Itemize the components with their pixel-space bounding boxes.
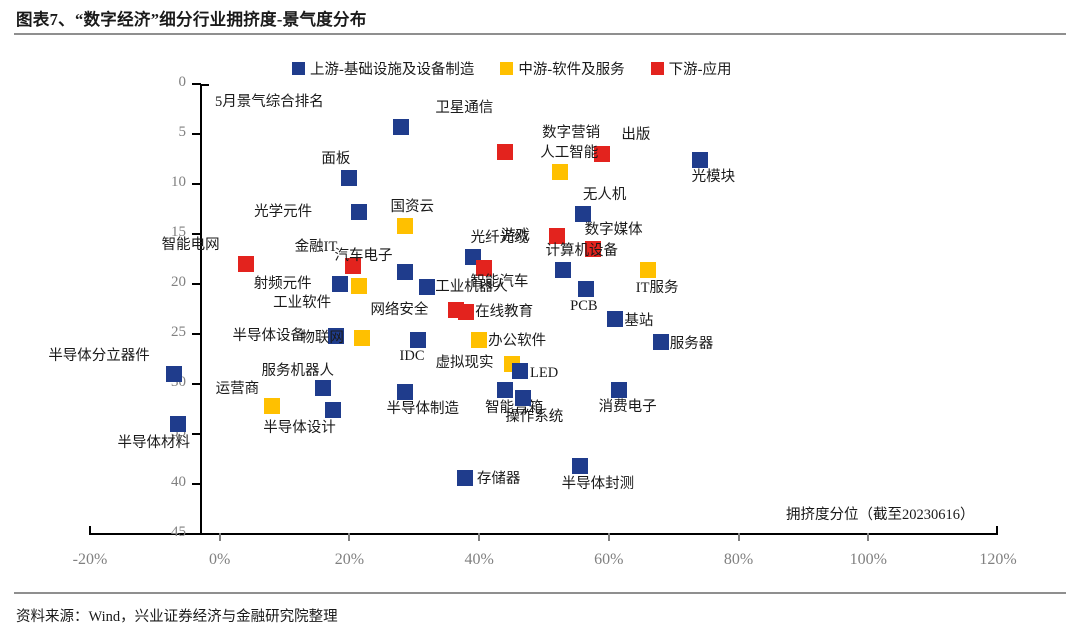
scatter-marker[interactable] — [457, 470, 473, 486]
scatter-marker[interactable] — [351, 278, 367, 294]
chart-note: 5月景气综合排名 — [215, 90, 324, 111]
scatter-marker[interactable] — [397, 384, 413, 400]
scatter-point-label: LED — [530, 366, 558, 381]
scatter-marker[interactable] — [458, 304, 474, 320]
scatter-point-label: 存储器 — [477, 472, 521, 487]
scatter-point-label: 计算机设备 — [545, 244, 618, 259]
scatter-point-label: 工业机器人 — [435, 280, 508, 295]
scatter-point-label: 半导体分立器件 — [48, 349, 150, 364]
scatter-point-label: 半导体材料 — [118, 436, 191, 451]
scatter-point-label: 出版 — [621, 128, 650, 143]
scatter-point-label: 无人机 — [583, 188, 627, 203]
scatter-marker[interactable] — [170, 416, 186, 432]
x-axis-tick — [738, 533, 740, 541]
x-axis-tick-label: 120% — [958, 551, 1038, 569]
x-axis-tick — [219, 533, 221, 541]
scatter-marker[interactable] — [397, 218, 413, 234]
x-axis-line — [90, 533, 998, 535]
scatter-marker[interactable] — [419, 279, 435, 295]
scatter-point-label: 服务器 — [670, 337, 714, 352]
scatter-marker[interactable] — [497, 382, 513, 398]
scatter-marker[interactable] — [341, 170, 357, 186]
y-axis-tick — [192, 533, 201, 535]
scatter-point-label: 数字媒体 — [585, 223, 643, 238]
scatter-point-label: 办公软件 — [488, 334, 546, 349]
scatter-point-label: 数字营销 — [542, 126, 600, 141]
scatter-point-label: 虚拟现实 — [436, 356, 494, 371]
scatter-marker[interactable] — [555, 262, 571, 278]
y-axis-tick-label: 25 — [140, 324, 186, 341]
scatter-point-label: 网络安全 — [370, 303, 428, 318]
scatter-marker[interactable] — [166, 366, 182, 382]
x-axis-tick — [608, 533, 610, 541]
scatter-marker[interactable] — [653, 334, 669, 350]
scatter-marker[interactable] — [578, 281, 594, 297]
scatter-point-label: 半导体封测 — [562, 477, 635, 492]
y-axis-tick-label: 20 — [140, 274, 186, 291]
scatter-marker[interactable] — [515, 390, 531, 406]
legend-item-2[interactable]: 下游-应用 — [651, 58, 732, 79]
scatter-marker[interactable] — [397, 264, 413, 280]
x-axis-left-cap — [89, 526, 91, 535]
legend-item-0[interactable]: 上游-基础设施及设备制造 — [292, 58, 474, 79]
scatter-marker[interactable] — [497, 144, 513, 160]
scatter-marker[interactable] — [351, 204, 367, 220]
scatter-marker[interactable] — [264, 398, 280, 414]
y-axis-tick-label: 0 — [140, 74, 186, 91]
scatter-point-label: PCB — [570, 299, 597, 314]
y-axis-tick — [192, 383, 201, 385]
y-axis-tick — [192, 483, 201, 485]
scatter-point-label: 面板 — [321, 152, 350, 167]
scatter-marker[interactable] — [471, 332, 487, 348]
y-axis-tick-label: 5 — [140, 124, 186, 141]
x-axis-tick-label: 60% — [569, 551, 649, 569]
y-axis-tick — [192, 83, 201, 85]
x-axis-tick-label: 100% — [828, 551, 908, 569]
y-axis-tick-label: 10 — [140, 174, 186, 191]
scatter-marker[interactable] — [354, 330, 370, 346]
scatter-point-label: 卫星通信 — [435, 101, 493, 116]
scatter-point-label: 操作系统 — [505, 410, 563, 425]
y-axis-tick — [192, 133, 201, 135]
legend-item-1[interactable]: 中游-软件及服务 — [500, 58, 624, 79]
x-axis-title: 拥挤度分位（截至20230616） — [786, 503, 975, 524]
scatter-marker[interactable] — [692, 152, 708, 168]
scatter-marker[interactable] — [552, 164, 568, 180]
y-axis-tick-label: 40 — [140, 474, 186, 491]
scatter-marker[interactable] — [325, 402, 341, 418]
x-axis-tick-label: 80% — [699, 551, 779, 569]
page-title: 图表7、“数字经济”细分行业拥挤度-景气度分布 — [16, 6, 367, 30]
scatter-marker[interactable] — [238, 256, 254, 272]
scatter-point-label: 运营商 — [216, 382, 260, 397]
y-axis-tick — [192, 333, 201, 335]
y-axis-tick-label: 45 — [140, 524, 186, 541]
legend-label: 上游-基础设施及设备制造 — [310, 58, 474, 79]
scatter-point-label: 射频元件 — [254, 277, 312, 292]
y-axis-tick — [192, 433, 201, 435]
scatter-marker[interactable] — [607, 311, 623, 327]
legend-swatch-icon — [500, 62, 513, 75]
scatter-point-label: 半导体设计 — [263, 421, 336, 436]
x-axis-tick — [478, 533, 480, 541]
scatter-point-label: 基站 — [624, 314, 653, 329]
scatter-point-label: 工业软件 — [273, 296, 331, 311]
x-axis-tick-label: -20% — [50, 551, 130, 569]
scatter-marker[interactable] — [572, 458, 588, 474]
title-bar: 图表7、“数字经济”细分行业拥挤度-景气度分布 — [0, 0, 1080, 34]
y-axis-tick — [192, 283, 201, 285]
scatter-marker[interactable] — [332, 276, 348, 292]
y-axis-top-cap — [200, 84, 209, 86]
scatter-marker[interactable] — [549, 228, 565, 244]
scatter-point-label: 在线教育 — [475, 305, 533, 320]
x-axis-tick-label: 0% — [180, 551, 260, 569]
scatter-point-label: 半导体制造 — [387, 402, 460, 417]
scatter-marker[interactable] — [512, 363, 528, 379]
y-axis-tick — [192, 183, 201, 185]
y-axis-line — [200, 84, 202, 534]
source-note: 资料来源：Wind，兴业证券经济与金融研究院整理 — [16, 605, 338, 626]
scatter-point-label: 国资云 — [391, 200, 435, 215]
scatter-point-label: 消费电子 — [599, 400, 657, 415]
scatter-point-label: 智能电网 — [162, 238, 220, 253]
scatter-marker[interactable] — [575, 206, 591, 222]
scatter-point-label: 服务机器人 — [261, 364, 334, 379]
y-axis-tick — [192, 233, 201, 235]
scatter-point-label: IDC — [400, 349, 425, 364]
legend-swatch-icon — [651, 62, 664, 75]
scatter-point-label: 光模块 — [692, 170, 736, 185]
scatter-point-label: 光学元件 — [254, 205, 312, 220]
x-axis-tick — [867, 533, 869, 541]
scatter-marker[interactable] — [410, 332, 426, 348]
header-divider — [14, 33, 1066, 35]
x-axis-tick — [348, 533, 350, 541]
legend-swatch-icon — [292, 62, 305, 75]
x-axis-tick-label: 40% — [439, 551, 519, 569]
scatter-marker[interactable] — [611, 382, 627, 398]
scatter-point-label: 金融IT — [295, 240, 338, 255]
chart-legend: 上游-基础设施及设备制造中游-软件及服务下游-应用 — [292, 58, 732, 79]
scatter-point-label: 光纤光缆 — [471, 231, 529, 246]
x-axis-tick-label: 20% — [309, 551, 389, 569]
scatter-point-label: 人工智能 — [540, 146, 598, 161]
footer-divider — [14, 592, 1066, 594]
scatter-point-label: 半导体设备 — [232, 329, 305, 344]
legend-label: 中游-软件及服务 — [518, 58, 624, 79]
x-axis-right-cap — [996, 526, 998, 535]
legend-label: 下游-应用 — [669, 58, 732, 79]
scatter-point-label: IT服务 — [636, 281, 679, 296]
scatter-point-label: 物联网 — [300, 331, 344, 346]
scatter-marker[interactable] — [315, 380, 331, 396]
scatter-marker[interactable] — [640, 262, 656, 278]
scatter-marker[interactable] — [393, 119, 409, 135]
scatter-point-label: 汽车电子 — [335, 249, 393, 264]
